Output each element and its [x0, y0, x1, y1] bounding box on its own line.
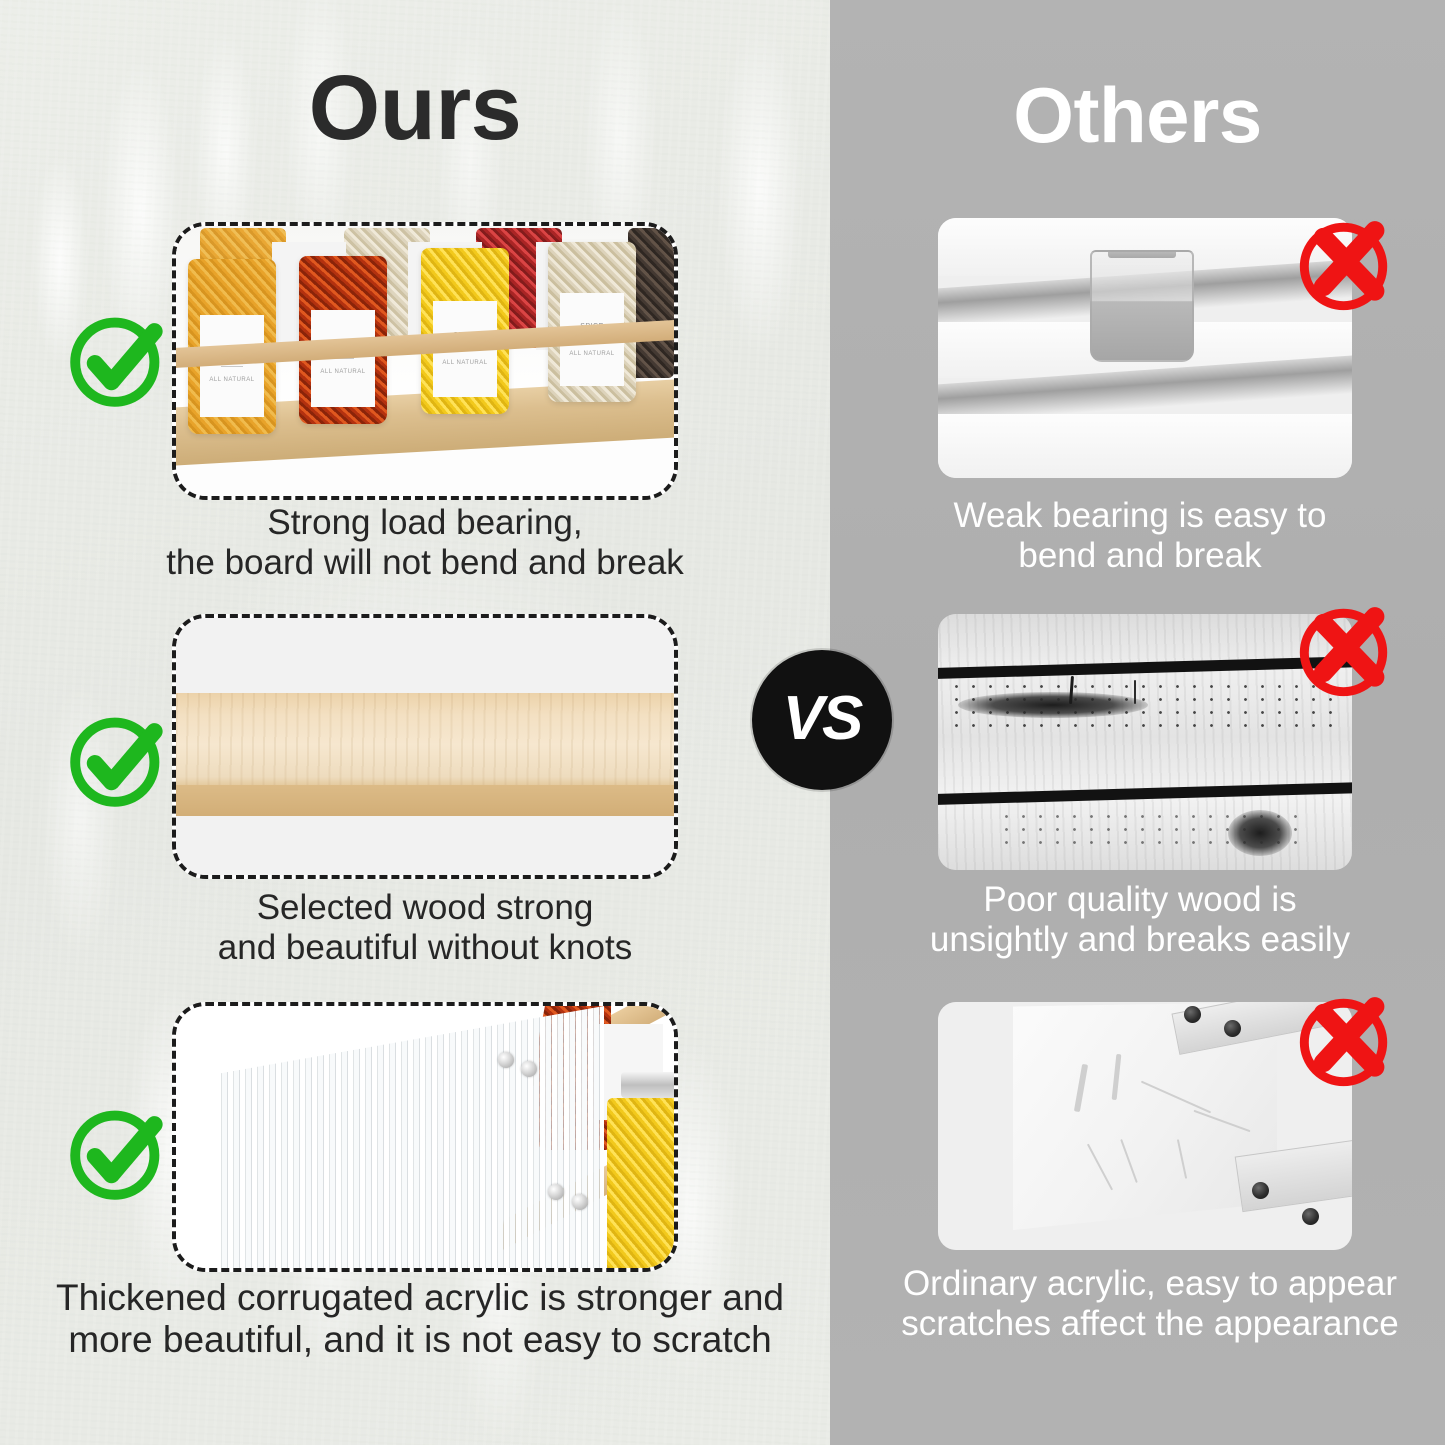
ours-photo-1-frame: SPICE ALL NATURAL SPICE ALL NATURAL — [172, 222, 678, 500]
jar-label-subtitle-2: ALL NATURAL — [320, 369, 365, 375]
others-photo-1-frame — [938, 218, 1352, 478]
jar-label-subtitle-3: ALL NATURAL — [442, 360, 487, 366]
ours-heading: Ours — [0, 56, 830, 161]
ours-caption-2: Selected wood strong and beautiful witho… — [110, 888, 740, 968]
green-check-icon-3 — [62, 1098, 172, 1208]
others-caption-1: Weak bearing is easy to bend and break — [890, 496, 1390, 576]
vs-badge: VS — [752, 650, 892, 790]
comparison-infographic: Ours Others SPICE — [0, 0, 1445, 1445]
smooth-knot-free-wood-plank-photo — [176, 618, 674, 875]
others-caption-3: Ordinary acrylic, easy to appear scratch… — [872, 1264, 1428, 1344]
jar-label-subtitle-4: ALL NATURAL — [569, 351, 614, 357]
others-heading: Others — [830, 70, 1445, 161]
thickened-corrugated-acrylic-panel-photo — [176, 1006, 674, 1268]
green-check-icon-1 — [62, 305, 172, 415]
ours-caption-1: Strong load bearing, the board will not … — [110, 503, 740, 583]
ours-photo-2-frame — [172, 614, 678, 879]
scratched-plain-acrylic-panel-photo — [938, 1002, 1352, 1250]
ours-caption-3: Thickened corrugated acrylic is stronger… — [40, 1277, 800, 1361]
others-caption-2: Poor quality wood is unsightly and break… — [890, 880, 1390, 960]
red-cross-icon-2 — [1292, 592, 1404, 704]
others-photo-2-frame — [938, 614, 1352, 870]
knotty-cracked-wood-photo — [938, 614, 1352, 870]
vs-label: VS — [783, 683, 862, 754]
jar-label-subtitle-1: ALL NATURAL — [209, 377, 254, 383]
ours-photo-3-frame — [172, 1002, 678, 1272]
bending-shelf-with-glass-jar-photo — [938, 218, 1352, 478]
spice-jars-on-wooden-shelf-photo: SPICE ALL NATURAL SPICE ALL NATURAL — [176, 226, 674, 496]
green-check-icon-2 — [62, 705, 172, 815]
red-cross-icon-3 — [1292, 982, 1404, 1094]
red-cross-icon-1 — [1292, 206, 1404, 318]
others-photo-3-frame — [938, 1002, 1352, 1250]
